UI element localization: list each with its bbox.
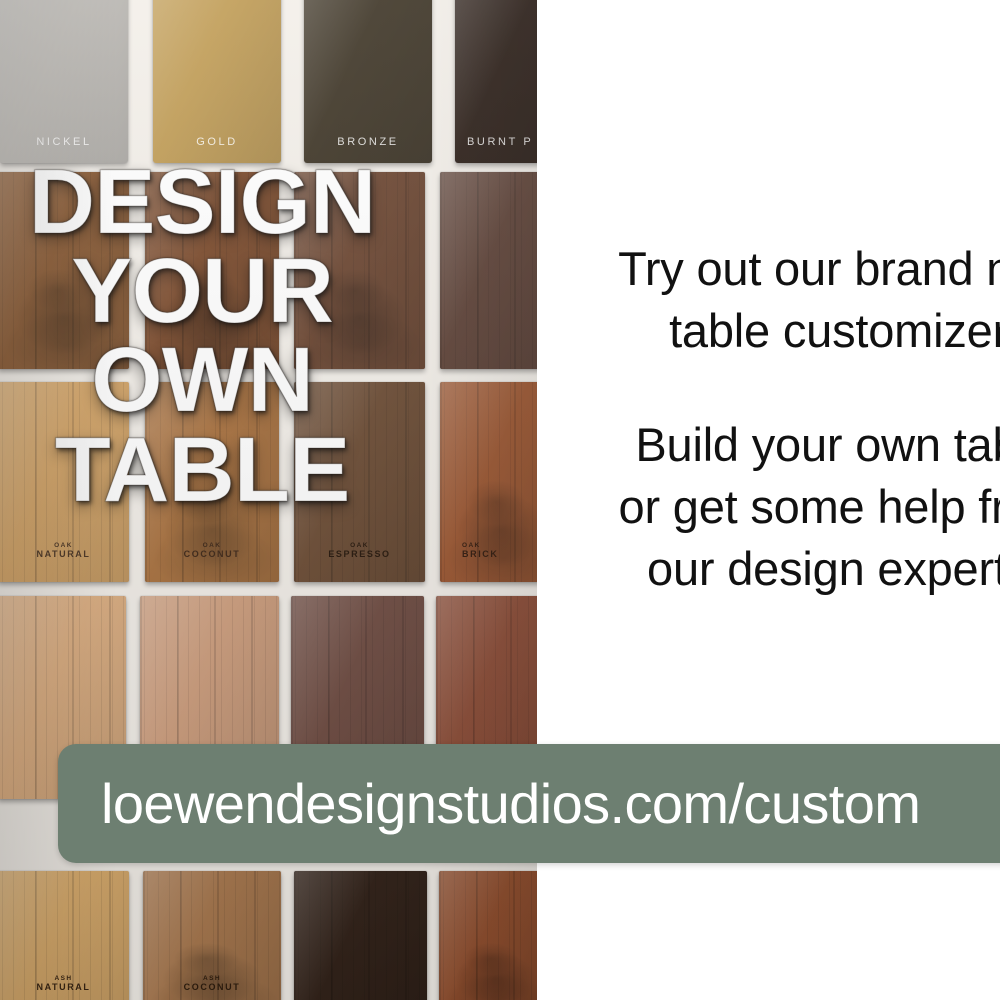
swatch-wood xyxy=(0,172,129,369)
wood-grain xyxy=(440,172,537,369)
swatch-name: COCONUT xyxy=(184,982,241,992)
swatch-burnt-penny: BURNT P xyxy=(455,0,537,163)
swatch-wood xyxy=(294,871,427,1000)
swatch-name: COCONUT xyxy=(184,549,241,559)
swatch-nickel: NICKEL xyxy=(0,0,128,163)
wood-knot xyxy=(145,172,279,369)
swatch-ash-natural: ASH NATURAL xyxy=(0,871,129,1000)
swatch-oak-coconut: OAK COCONUT xyxy=(145,382,279,582)
swatch-label: GOLD xyxy=(153,136,281,149)
wood-knot xyxy=(439,871,537,1000)
copy-line: Build your own table xyxy=(635,418,1000,471)
copy-line: our design experts. xyxy=(647,542,1000,595)
swatch-brand: OAK xyxy=(145,542,279,550)
swatch-bronze: BRONZE xyxy=(304,0,432,163)
swatch-label: OAK ESPRESSO xyxy=(294,542,425,560)
wood-swatch-row-2: OAK NATURAL OAK COCONUT OAK ESPRESSO xyxy=(0,382,537,582)
swatch-oak-natural: OAK NATURAL xyxy=(0,382,129,582)
promo-ad-canvas: NICKEL GOLD BRONZE BURNT P xyxy=(0,0,1000,1000)
swatch-label: OAK BRICK xyxy=(440,542,537,560)
swatch-name: NATURAL xyxy=(36,549,90,559)
copy-paragraph-2: Build your own table or get some help fr… xyxy=(560,414,1000,600)
swatch-brand: OAK xyxy=(462,542,537,550)
swatch-oak-brick: OAK BRICK xyxy=(440,382,537,582)
swatch-wood xyxy=(439,871,537,1000)
wood-grain xyxy=(294,871,427,1000)
swatch-name: ESPRESSO xyxy=(328,549,390,559)
swatch-brand: ASH xyxy=(0,975,129,983)
swatch-gold: GOLD xyxy=(153,0,281,163)
swatch-label: NICKEL xyxy=(0,136,128,149)
swatch-oak-espresso: OAK ESPRESSO xyxy=(294,382,425,582)
swatch-label: ASH COCONUT xyxy=(143,975,281,993)
body-copy: Try out our brand new table customizer! … xyxy=(560,238,1000,600)
swatch-wood xyxy=(440,172,537,369)
metal-swatch-row: NICKEL GOLD BRONZE BURNT P xyxy=(0,0,537,163)
wood-knot xyxy=(294,172,425,369)
url-cta-bar[interactable]: loewendesignstudios.com/custom xyxy=(58,744,1000,863)
copy-paragraph-1: Try out our brand new table customizer! xyxy=(560,238,1000,362)
wood-swatch-row-4: ASH NATURAL ASH COCONUT xyxy=(0,871,537,1000)
swatch-wood xyxy=(145,172,279,369)
swatch-wood xyxy=(294,172,425,369)
swatch-label: BURNT P xyxy=(455,136,537,149)
swatch-brand: OAK xyxy=(294,542,425,550)
swatch-label: OAK COCONUT xyxy=(145,542,279,560)
url-text: loewendesignstudios.com/custom xyxy=(58,771,920,836)
swatch-ash-coconut: ASH COCONUT xyxy=(143,871,281,1000)
swatch-label: OAK NATURAL xyxy=(0,542,129,560)
swatch-brand: OAK xyxy=(0,542,129,550)
swatch-label: BRONZE xyxy=(304,136,432,149)
wood-knot xyxy=(0,172,129,369)
wood-swatch-row-1 xyxy=(0,172,537,369)
copy-spacer xyxy=(560,362,1000,414)
copy-line: Try out our brand new xyxy=(618,242,1000,295)
swatch-name: NATURAL xyxy=(36,982,90,992)
swatch-label: ASH NATURAL xyxy=(0,975,129,993)
copy-line: table customizer! xyxy=(669,304,1000,357)
swatch-brand: ASH xyxy=(143,975,281,983)
swatch-name: BRICK xyxy=(462,549,499,559)
copy-line: or get some help from xyxy=(619,480,1000,533)
